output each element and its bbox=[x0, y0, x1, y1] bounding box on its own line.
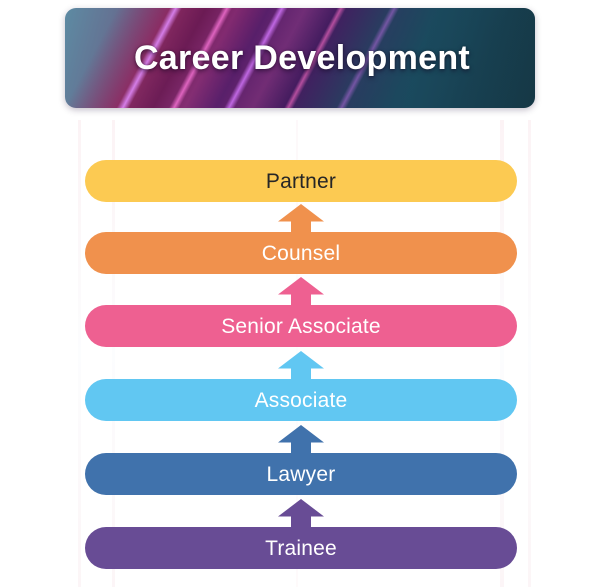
ladder-step-label: Lawyer bbox=[267, 464, 336, 485]
promotion-arrow-trainee bbox=[278, 499, 324, 529]
promotion-arrow-associate bbox=[278, 351, 324, 381]
promotion-arrow-senior-associate bbox=[278, 277, 324, 307]
ladder-step-label: Partner bbox=[266, 171, 336, 192]
ladder-step-label: Trainee bbox=[265, 538, 337, 559]
promotion-arrow-counsel bbox=[278, 204, 324, 234]
promotion-arrow-lawyer bbox=[278, 425, 324, 455]
ladder-step-associate[interactable]: Associate bbox=[85, 379, 517, 421]
ladder-step-label: Senior Associate bbox=[221, 316, 381, 337]
career-development-diagram: Career Development PartnerCounselSenior … bbox=[0, 0, 600, 587]
ladder-step-trainee[interactable]: Trainee bbox=[85, 527, 517, 569]
ladder-step-partner[interactable]: Partner bbox=[85, 160, 517, 202]
ladder-step-label: Counsel bbox=[262, 243, 340, 264]
ladder-step-counsel[interactable]: Counsel bbox=[85, 232, 517, 274]
ladder-step-lawyer[interactable]: Lawyer bbox=[85, 453, 517, 495]
ladder-step-label: Associate bbox=[255, 390, 348, 411]
ladder-step-senior-associate[interactable]: Senior Associate bbox=[85, 305, 517, 347]
career-ladder: PartnerCounselSenior AssociateAssociateL… bbox=[0, 0, 600, 587]
